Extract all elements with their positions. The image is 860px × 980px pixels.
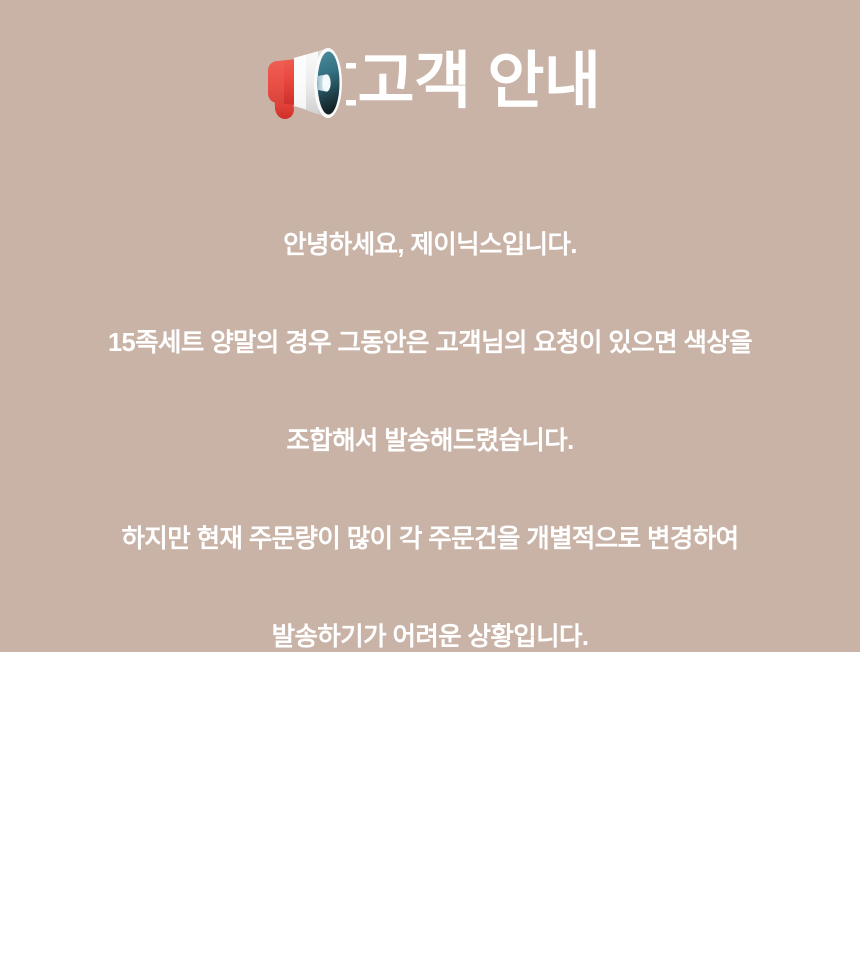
notice-line: 15족세트 양말의 경우 그동안은 고객님의 요청이 있으면 색상을	[108, 320, 752, 367]
notice-header: 고객 안내	[0, 34, 860, 130]
megaphone-icon	[260, 43, 356, 127]
notice-line: 발송하기가 어려운 상황입니다.	[272, 614, 589, 661]
customer-notice-card: 고객 안내 안녕하세요, 제이닉스입니다. 15족세트 양말의 경우 그동안은 …	[0, 0, 860, 652]
notice-line: 양해 부탁드립니다.	[332, 810, 528, 857]
notice-line: 안녕하세요, 제이닉스입니다.	[283, 222, 577, 269]
notice-line: 조합해서 발송해드렸습니다.	[286, 418, 573, 465]
notice-line: 하지만 현재 주문량이 많이 각 주문건을 개별적으로 변경하여	[122, 516, 739, 563]
notice-line: 이에 따라 9월 21일 이후부터는 변경 배송 요청이 불가능한 점	[118, 712, 743, 759]
page-title: 고객 안내	[358, 51, 601, 113]
notice-body: 안녕하세요, 제이닉스입니다. 15족세트 양말의 경우 그동안은 고객님의 요…	[30, 196, 830, 980]
notice-line: 항상 저희 제품을 이용해 주셔서 진심으로 감사드립니다.	[144, 908, 715, 955]
